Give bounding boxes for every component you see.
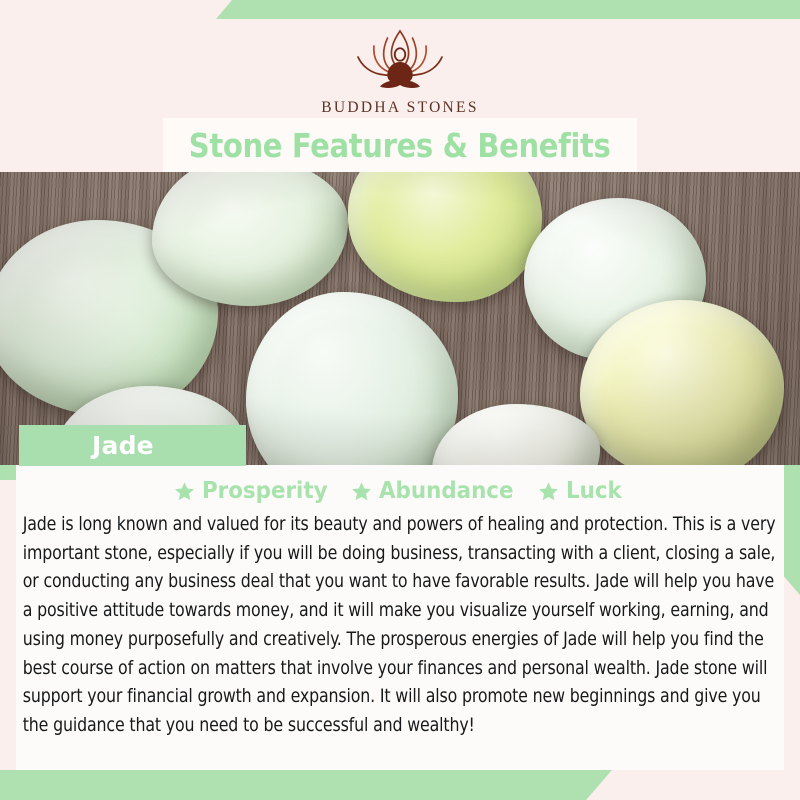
benefit-label-prosperity: Prosperity (202, 478, 328, 504)
benefits-row: Prosperity Abundance Luck (16, 473, 784, 509)
stone-name-text: Jade (92, 431, 154, 460)
benefit-label-abundance: Abundance (379, 478, 513, 504)
benefit-item: Abundance (351, 478, 524, 504)
section-title-banner: Stone Features & Benefits (163, 118, 637, 172)
page-title: Stone Features & Benefits (189, 126, 611, 165)
description-text: Jade is long known and valued for its be… (17, 511, 780, 741)
lotus-meditation-icon (340, 26, 460, 92)
stone-photo (0, 172, 800, 465)
brand-wordmark: BUDDHA STONES (321, 99, 479, 117)
stone-name-label: Jade (19, 425, 246, 466)
benefit-item: Prosperity (174, 478, 337, 504)
decor-bottom-left-green-band (0, 770, 612, 800)
brand-logo: BUDDHA STONES (0, 26, 800, 117)
star-icon (538, 481, 559, 502)
infographic-page: BUDDHA STONES Stone Features & Benefits … (0, 0, 800, 800)
star-icon (351, 481, 372, 502)
photo-vignette (0, 172, 800, 465)
star-icon (174, 481, 195, 502)
benefit-label-luck: Luck (566, 478, 622, 504)
benefit-item: Luck (538, 478, 626, 504)
description-panel: Prosperity Abundance Luck Jade is long k… (16, 465, 784, 770)
